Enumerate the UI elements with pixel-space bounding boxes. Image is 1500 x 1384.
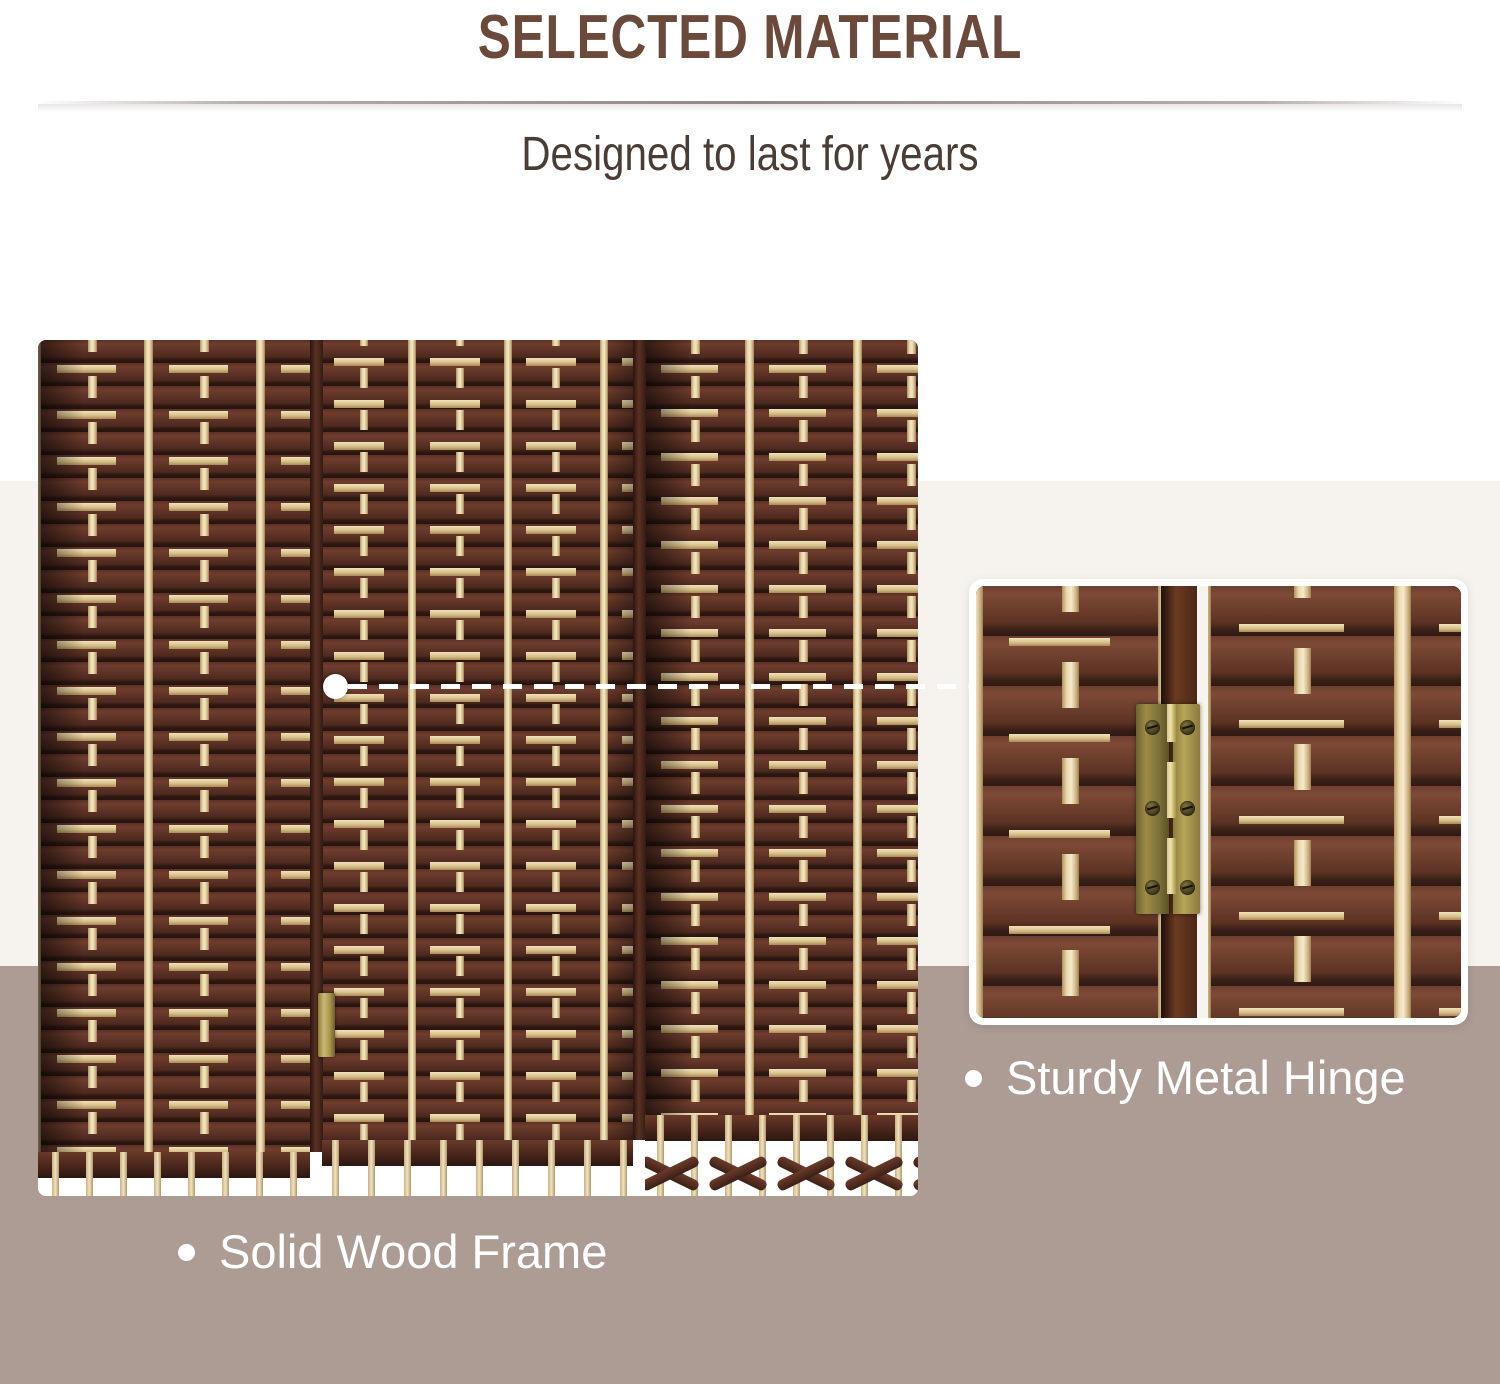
weave-nub bbox=[200, 882, 209, 904]
weave-nub bbox=[360, 368, 368, 388]
weave-nub bbox=[691, 728, 700, 750]
lattice-post bbox=[476, 1140, 483, 1196]
weave-nub bbox=[144, 721, 153, 743]
caption-text: Sturdy Metal Hinge bbox=[1006, 1051, 1406, 1104]
weave-nub bbox=[976, 902, 983, 948]
weave-nub bbox=[408, 641, 416, 661]
weave-nub bbox=[200, 974, 209, 996]
weave-nub bbox=[200, 1112, 209, 1134]
weave-rib bbox=[877, 1025, 918, 1033]
weave-rib bbox=[334, 988, 384, 996]
weave-nub bbox=[907, 552, 916, 574]
weave-rib bbox=[334, 442, 384, 450]
weave-rib bbox=[430, 862, 480, 870]
weave-nub bbox=[799, 508, 808, 530]
weave-nub bbox=[1294, 744, 1311, 790]
bullet-icon bbox=[965, 1070, 982, 1087]
weave-nub bbox=[88, 882, 97, 904]
divider-left-panel bbox=[38, 340, 318, 1152]
callout-dashed-line bbox=[348, 684, 978, 689]
weave-nub bbox=[976, 710, 983, 756]
weave-nub bbox=[504, 725, 512, 745]
weave-nub bbox=[799, 772, 808, 794]
weave-rib bbox=[334, 778, 384, 786]
weave-rib bbox=[526, 358, 576, 366]
weave-rib bbox=[526, 1030, 576, 1038]
page-title: SELECTED MATERIAL bbox=[150, 2, 1350, 74]
weave-nub bbox=[691, 992, 700, 1014]
weave-rib bbox=[334, 400, 384, 408]
weave-nub bbox=[144, 445, 153, 467]
weave-nub bbox=[360, 956, 368, 976]
weave-nub bbox=[144, 537, 153, 559]
weave-rib bbox=[877, 717, 918, 725]
weave-rib bbox=[1009, 830, 1110, 838]
weave-rib bbox=[769, 541, 826, 549]
weave-nub bbox=[408, 893, 416, 913]
weave-nub bbox=[456, 872, 464, 892]
weave-nub bbox=[144, 629, 153, 651]
weave-nub bbox=[691, 904, 700, 926]
weave-rib bbox=[1239, 720, 1344, 728]
weave-rib bbox=[169, 779, 228, 787]
weave-rib bbox=[769, 409, 826, 417]
divider-center-panel bbox=[322, 340, 640, 1140]
weave-nub bbox=[552, 746, 560, 766]
weave-nub bbox=[799, 816, 808, 838]
weave-nub bbox=[552, 340, 560, 346]
weave-nub bbox=[200, 1020, 209, 1042]
weave-nub bbox=[408, 1019, 416, 1039]
weave-nub bbox=[408, 935, 416, 955]
weave-nub bbox=[504, 851, 512, 871]
weave-rib bbox=[169, 457, 228, 465]
weave-nub bbox=[799, 376, 808, 398]
weave-nub bbox=[1294, 586, 1311, 598]
weave-rib bbox=[769, 629, 826, 637]
weave-rib bbox=[877, 585, 918, 593]
weave-nub bbox=[799, 992, 808, 1014]
weave-nub bbox=[144, 1089, 153, 1111]
weave-nub bbox=[853, 750, 862, 772]
weave-rib bbox=[430, 1030, 480, 1038]
weave-nub bbox=[408, 473, 416, 493]
weave-nub bbox=[408, 557, 416, 577]
weave-nub bbox=[88, 606, 97, 628]
weave-nub bbox=[1394, 984, 1411, 1018]
weave-nub bbox=[456, 620, 464, 640]
weave-nub bbox=[144, 767, 153, 789]
weave-nub bbox=[1062, 586, 1079, 612]
weave-nub bbox=[360, 788, 368, 808]
weave-nub bbox=[200, 422, 209, 444]
weave-nub bbox=[408, 347, 416, 367]
weave-nub bbox=[691, 948, 700, 970]
weave-nub bbox=[1294, 936, 1311, 982]
weave-rib bbox=[526, 946, 576, 954]
weave-rib bbox=[769, 453, 826, 461]
weave-nub bbox=[360, 998, 368, 1018]
weave-nub bbox=[456, 410, 464, 430]
weave-nub bbox=[408, 725, 416, 745]
weave-nub bbox=[504, 767, 512, 787]
weave-nub bbox=[200, 928, 209, 950]
weave-nub bbox=[408, 809, 416, 829]
weave-nub bbox=[691, 552, 700, 574]
weave-rib bbox=[169, 411, 228, 419]
lattice-post bbox=[154, 1152, 161, 1196]
weave-rib bbox=[334, 610, 384, 618]
weave-nub bbox=[1394, 888, 1411, 934]
weave-nub bbox=[504, 809, 512, 829]
weave-nub bbox=[552, 1082, 560, 1102]
weave-rib bbox=[877, 805, 918, 813]
weave-nub bbox=[144, 353, 153, 375]
panel-shadow-left bbox=[645, 340, 691, 1115]
weave-nub bbox=[799, 464, 808, 486]
weave-nub bbox=[456, 788, 464, 808]
header-divider-shadow bbox=[38, 104, 1462, 112]
weave-nub bbox=[799, 860, 808, 882]
weave-nub bbox=[691, 1080, 700, 1102]
lattice-top-rail bbox=[645, 1115, 918, 1141]
weave-rib bbox=[769, 893, 826, 901]
weave-rib bbox=[877, 409, 918, 417]
weave-nub bbox=[745, 838, 754, 860]
weave-rib bbox=[877, 541, 918, 549]
weave-nub bbox=[552, 1124, 560, 1140]
weave-nub bbox=[745, 1014, 754, 1036]
weave-nub bbox=[1394, 792, 1411, 838]
weave-nub bbox=[504, 473, 512, 493]
weave-rib bbox=[1239, 816, 1344, 824]
lattice-post bbox=[512, 1140, 519, 1196]
weave-rib bbox=[1439, 624, 1461, 632]
weave-nub bbox=[1294, 840, 1311, 886]
weave-nub bbox=[745, 970, 754, 992]
weave-nub bbox=[1062, 662, 1079, 708]
weave-nub bbox=[504, 1103, 512, 1123]
weave-nub bbox=[456, 1082, 464, 1102]
weave-nub bbox=[853, 486, 862, 508]
weave-nub bbox=[799, 596, 808, 618]
weave-rib bbox=[526, 736, 576, 744]
weave-nub bbox=[1294, 648, 1311, 694]
weave-nub bbox=[504, 935, 512, 955]
weave-rib bbox=[1439, 816, 1461, 824]
panel-shadow-left bbox=[38, 340, 84, 1152]
weave-nub bbox=[976, 998, 983, 1018]
weave-rib bbox=[526, 526, 576, 534]
weave-nub bbox=[907, 640, 916, 662]
weave-rib bbox=[169, 825, 228, 833]
lattice-post bbox=[86, 1152, 93, 1196]
weave-rib bbox=[334, 358, 384, 366]
weave-nub bbox=[256, 951, 265, 973]
weave-nub bbox=[853, 838, 862, 860]
weave-rib bbox=[1009, 734, 1110, 742]
weave-nub bbox=[1394, 600, 1411, 646]
weave-rib bbox=[334, 526, 384, 534]
weave-nub bbox=[200, 468, 209, 490]
weave-nub bbox=[504, 1019, 512, 1039]
inset-weave-left bbox=[976, 586, 1161, 1018]
weave-nub bbox=[907, 772, 916, 794]
weave-nub bbox=[408, 851, 416, 871]
lattice-cross-icon bbox=[645, 1152, 697, 1190]
weave-nub bbox=[799, 640, 808, 662]
weave-nub bbox=[1062, 854, 1079, 900]
weave-nub bbox=[88, 790, 97, 812]
weave-nub bbox=[853, 970, 862, 992]
weave-nub bbox=[552, 1040, 560, 1060]
bottom-lattice-left bbox=[38, 1152, 310, 1196]
hinge-closeup-image bbox=[976, 586, 1461, 1018]
weave-nub bbox=[853, 574, 862, 596]
weave-rib bbox=[526, 820, 576, 828]
weave-nub bbox=[456, 1040, 464, 1060]
weave-nub bbox=[456, 746, 464, 766]
weave-rib bbox=[334, 946, 384, 954]
weave-nub bbox=[745, 574, 754, 596]
weave-nub bbox=[504, 893, 512, 913]
weave-posts bbox=[976, 586, 1161, 1018]
weave-rib bbox=[1239, 912, 1344, 920]
weave-nub bbox=[691, 640, 700, 662]
lattice-top-rail bbox=[38, 1152, 310, 1178]
weave-nub bbox=[256, 721, 265, 743]
weave-rib bbox=[1009, 926, 1110, 934]
page-subtitle: Designed to last for years bbox=[120, 126, 1380, 184]
weave-nub bbox=[256, 491, 265, 513]
weave-rib bbox=[430, 946, 480, 954]
weave-nub bbox=[144, 491, 153, 513]
hinge-screw-2 bbox=[1180, 720, 1195, 735]
hinge-screw-6 bbox=[1180, 880, 1195, 895]
weave-nub bbox=[907, 420, 916, 442]
weave-rib bbox=[1239, 624, 1344, 632]
weave-nub bbox=[552, 998, 560, 1018]
weave-rib bbox=[334, 1072, 384, 1080]
weave-nub bbox=[907, 464, 916, 486]
weave-rib bbox=[769, 1069, 826, 1077]
main-screen-hinge-icon bbox=[318, 993, 335, 1057]
weave-nub bbox=[907, 860, 916, 882]
weave-nub bbox=[1208, 696, 1211, 742]
inset-weave-right bbox=[1208, 586, 1461, 1018]
caption-sturdy-metal-hinge: Sturdy Metal Hinge bbox=[965, 1050, 1406, 1106]
weave-nub bbox=[552, 662, 560, 682]
weave-nub bbox=[200, 376, 209, 398]
weave-nub bbox=[88, 698, 97, 720]
weave-nub bbox=[360, 452, 368, 472]
weave-nub bbox=[408, 389, 416, 409]
weave-nub bbox=[360, 536, 368, 556]
weave-nub bbox=[552, 788, 560, 808]
weave-nub bbox=[456, 1124, 464, 1140]
weave-nub bbox=[360, 704, 368, 724]
weave-nub bbox=[144, 583, 153, 605]
weave-nub bbox=[360, 914, 368, 934]
hinge-screw-5 bbox=[1145, 880, 1160, 895]
infographic-page: SELECTED MATERIAL Designed to last for y… bbox=[0, 0, 1500, 1384]
weave-posts bbox=[1208, 586, 1461, 1018]
weave-nub bbox=[552, 494, 560, 514]
weave-rib bbox=[526, 610, 576, 618]
weave-nub bbox=[552, 452, 560, 472]
weave-nub bbox=[504, 431, 512, 451]
weave-nub bbox=[853, 662, 862, 684]
brass-hinge-icon bbox=[1136, 704, 1200, 914]
weave-rib bbox=[877, 629, 918, 637]
weave-rib bbox=[334, 1030, 384, 1038]
weave-rib bbox=[334, 904, 384, 912]
frame-edge-right bbox=[633, 340, 646, 1140]
weave-nub bbox=[456, 368, 464, 388]
weave-rib bbox=[526, 1072, 576, 1080]
weave-nub bbox=[853, 442, 862, 464]
weave-nub bbox=[691, 1036, 700, 1058]
weave-nub bbox=[1062, 950, 1079, 996]
weave-rib bbox=[169, 1101, 228, 1109]
weave-rib bbox=[877, 981, 918, 989]
weave-rib bbox=[769, 497, 826, 505]
weave-rib bbox=[526, 694, 576, 702]
weave-nub bbox=[1208, 600, 1211, 646]
hinge-closeup-inset bbox=[969, 579, 1468, 1025]
weave-rib bbox=[430, 1114, 480, 1122]
weave-nub bbox=[552, 536, 560, 556]
weave-nub bbox=[853, 1102, 862, 1115]
lattice-cross-icon bbox=[711, 1152, 765, 1190]
weave-nub bbox=[200, 652, 209, 674]
weave-rib bbox=[769, 981, 826, 989]
weave-rib bbox=[769, 849, 826, 857]
weave-nub bbox=[907, 948, 916, 970]
weave-nub bbox=[360, 1040, 368, 1060]
hinge-knuckle-top bbox=[1167, 704, 1176, 742]
weave-nub bbox=[200, 340, 209, 352]
weave-nub bbox=[691, 376, 700, 398]
weave-nub bbox=[408, 1061, 416, 1081]
weave-rib bbox=[169, 1055, 228, 1063]
weave-nub bbox=[907, 376, 916, 398]
lattice-post bbox=[188, 1152, 195, 1196]
weave-nub bbox=[456, 452, 464, 472]
weave-nub bbox=[456, 704, 464, 724]
weave-nub bbox=[456, 340, 464, 346]
weave-rib bbox=[526, 442, 576, 450]
weave-rib bbox=[1439, 912, 1461, 920]
divider-right-panel bbox=[645, 340, 918, 1115]
weave-nub bbox=[256, 399, 265, 421]
weave-rib bbox=[1439, 1008, 1461, 1016]
hinge-screw-4 bbox=[1180, 801, 1195, 816]
weave-rib bbox=[169, 1009, 228, 1017]
weave-rib bbox=[169, 549, 228, 557]
weave-rib bbox=[430, 778, 480, 786]
weave-rib bbox=[769, 761, 826, 769]
weave-rib bbox=[526, 988, 576, 996]
weave-nub bbox=[691, 464, 700, 486]
weave-rib bbox=[877, 761, 918, 769]
hinge-screw-1 bbox=[1145, 720, 1160, 735]
weave-rib bbox=[334, 736, 384, 744]
weave-nub bbox=[907, 596, 916, 618]
weave-rib bbox=[334, 568, 384, 576]
weave-nub bbox=[408, 599, 416, 619]
weave-nub bbox=[691, 340, 700, 354]
weave-rib bbox=[169, 687, 228, 695]
weave-nub bbox=[504, 347, 512, 367]
weave-nub bbox=[907, 728, 916, 750]
lattice-cross-icon bbox=[847, 1152, 901, 1190]
weave-rib bbox=[169, 503, 228, 511]
weave-rib bbox=[334, 484, 384, 492]
weave-nub bbox=[1208, 984, 1211, 1018]
weave-nub bbox=[88, 1112, 97, 1134]
lattice-post bbox=[290, 1152, 297, 1196]
weave-nub bbox=[360, 494, 368, 514]
weave-nub bbox=[691, 596, 700, 618]
weave-nub bbox=[360, 1124, 368, 1140]
lattice-post bbox=[222, 1152, 229, 1196]
weave-nub bbox=[799, 1036, 808, 1058]
weave-nub bbox=[552, 914, 560, 934]
weave-nub bbox=[456, 494, 464, 514]
weave-nub bbox=[360, 662, 368, 682]
weave-nub bbox=[144, 813, 153, 835]
weave-rib bbox=[430, 904, 480, 912]
weave-nub bbox=[745, 794, 754, 816]
weave-nub bbox=[256, 1135, 265, 1152]
weave-rib bbox=[526, 400, 576, 408]
main-product-photo bbox=[38, 340, 918, 1196]
weave-nub bbox=[256, 537, 265, 559]
weave-rib bbox=[526, 904, 576, 912]
hinge-screw-3 bbox=[1145, 801, 1160, 816]
weave-nub bbox=[853, 794, 862, 816]
weave-nub bbox=[799, 340, 808, 354]
weave-nub bbox=[88, 1020, 97, 1042]
weave-nub bbox=[256, 1089, 265, 1111]
weave-nub bbox=[456, 914, 464, 934]
weave-nub bbox=[456, 998, 464, 1018]
weave-nub bbox=[88, 560, 97, 582]
weave-nub bbox=[200, 790, 209, 812]
weave-rib bbox=[430, 694, 480, 702]
weave-rib bbox=[526, 568, 576, 576]
weave-nub bbox=[745, 1102, 754, 1115]
lattice-cross-icon bbox=[779, 1152, 833, 1190]
caption-text: Solid Wood Frame bbox=[219, 1225, 607, 1278]
weave-rib bbox=[877, 937, 918, 945]
weave-nub bbox=[853, 618, 862, 640]
weave-nub bbox=[745, 750, 754, 772]
weave-rib bbox=[526, 862, 576, 870]
weave-rib bbox=[1009, 638, 1110, 646]
weave-nub bbox=[691, 772, 700, 794]
weave-nub bbox=[504, 599, 512, 619]
weave-nub bbox=[745, 442, 754, 464]
weave-rib bbox=[430, 736, 480, 744]
weave-rib bbox=[169, 733, 228, 741]
weave-nub bbox=[745, 706, 754, 728]
weave-rib bbox=[169, 641, 228, 649]
weave-nub bbox=[88, 340, 97, 352]
weave-nub bbox=[853, 882, 862, 904]
weave-nub bbox=[88, 376, 97, 398]
